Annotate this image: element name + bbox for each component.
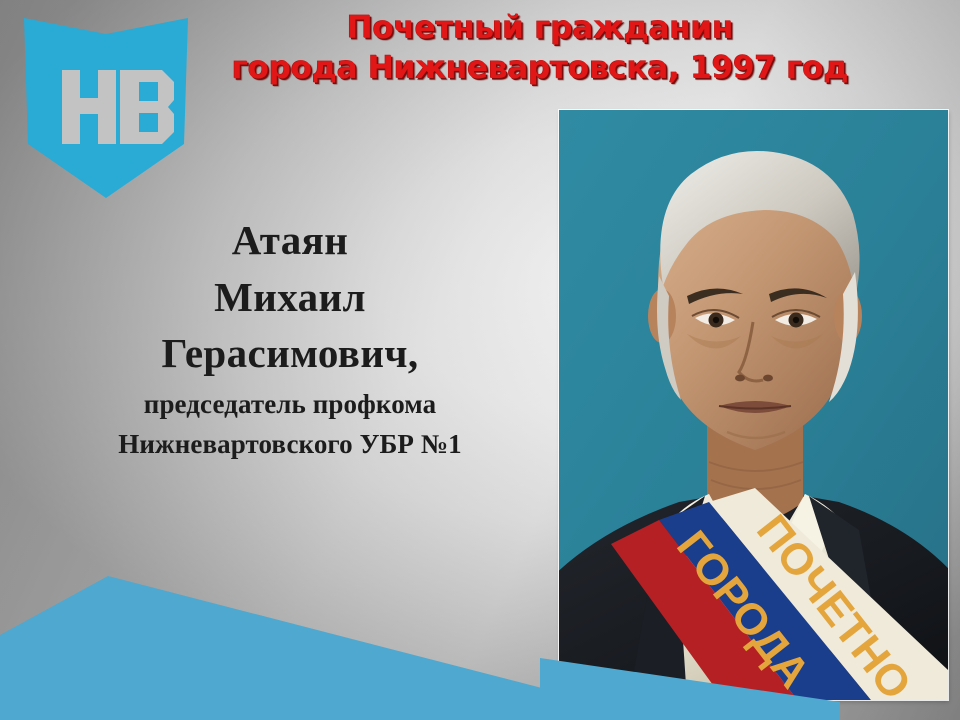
- person-surname: Атаян: [30, 212, 550, 269]
- person-first-name: Михаил: [30, 269, 550, 326]
- person-role-line-2: Нижневартовского УБР №1: [30, 426, 550, 463]
- portrait-photo: ПОЧЕТНО ГОРОДА: [559, 110, 948, 700]
- slide-canvas: Почетный гражданин города Нижневартовска…: [0, 0, 960, 720]
- person-info-block: Атаян Михаил Герасимович, председатель п…: [30, 212, 550, 463]
- nv-logo: [22, 12, 190, 200]
- page-title: Почетный гражданин города Нижневартовска…: [190, 8, 890, 89]
- nostril-right: [763, 375, 773, 382]
- bottom-accent-wedge: [0, 540, 600, 720]
- person-patronymic: Герасимович,: [30, 325, 550, 382]
- bottom-wedge-shape: [0, 540, 600, 720]
- portrait-illustration: ПОЧЕТНО ГОРОДА: [559, 110, 948, 700]
- person-role-line-1: председатель профкома: [30, 386, 550, 423]
- nostril-left: [735, 375, 745, 382]
- nv-logo-shield-icon: [22, 12, 190, 200]
- bottom-wedge-polygon: [0, 576, 600, 720]
- logo-letter-v: [120, 70, 174, 144]
